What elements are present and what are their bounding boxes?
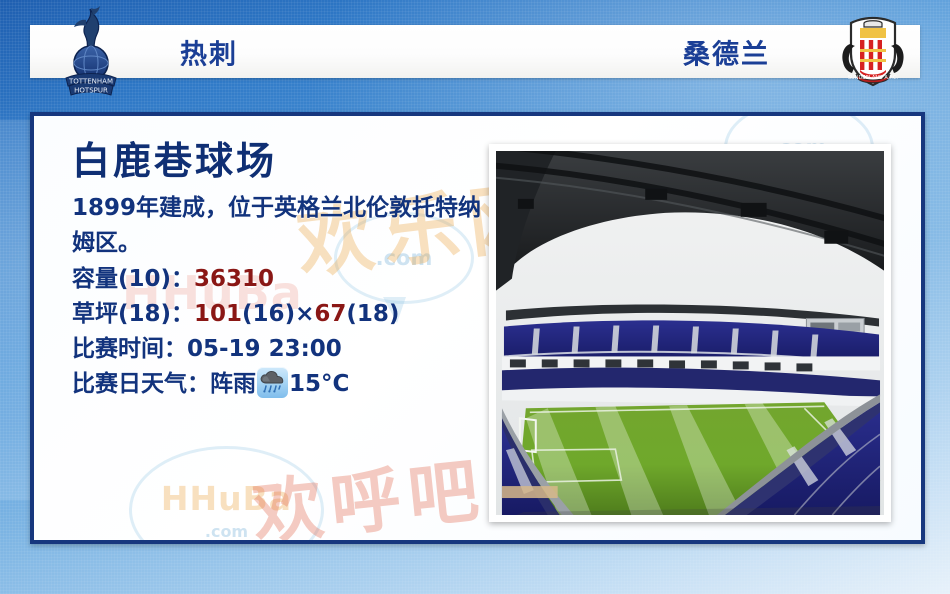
sunderland-afc-crest-icon: SUNDERLAND A.F.C. (838, 16, 908, 88)
pitch-width: 67 (314, 301, 346, 327)
stadium-info-card: 热刺 桑德兰 TOTTENHAM HOTSPUR (0, 0, 950, 594)
pitch-separator: × (295, 301, 314, 327)
kickoff-value: 05-19 23:00 (187, 336, 342, 362)
kickoff-label: 比赛时间： (72, 336, 187, 362)
svg-text:TOTTENHAM: TOTTENHAM (68, 78, 113, 86)
pitch-length-rank: (16) (242, 301, 295, 327)
home-team-name: 热刺 (180, 32, 238, 71)
watermark-brand: HHuBa (161, 479, 292, 518)
watermark-cn-bottom: 欢呼吧 (247, 434, 490, 544)
pitch-length: 101 (194, 301, 242, 327)
stadium-title: 白鹿巷球场 (72, 140, 492, 183)
capacity-value: 36310 (194, 266, 274, 292)
weather-row: 比赛日天气：阵雨 15°C (72, 367, 492, 402)
capacity-row: 容量(10)：36310 (72, 262, 492, 297)
stadium-photo-frame (489, 144, 891, 522)
stadium-description: 1899年建成，位于英格兰北伦敦托特纳姆区。 (72, 191, 492, 262)
stadium-detail-panel: .com .com HHuBa .com HHuBa .com HHuBa 欢乐… (30, 112, 925, 544)
svg-text:HOTSPUR: HOTSPUR (74, 87, 108, 95)
pitch-label: 草坪(18)： (72, 301, 194, 327)
rain-shower-icon (257, 367, 288, 398)
weather-temperature: 15°C (289, 371, 349, 397)
stadium-photo (496, 151, 884, 515)
pitch-row: 草坪(18)：101(16)×67(18) (72, 297, 492, 332)
weather-condition: 阵雨 (210, 371, 256, 397)
away-team-name: 桑德兰 (683, 32, 770, 71)
tottenham-hotspur-crest-icon: TOTTENHAM HOTSPUR (62, 6, 120, 100)
match-header-bar: 热刺 桑德兰 (30, 25, 920, 78)
svg-text:SUNDERLAND A.F.C.: SUNDERLAND A.F.C. (848, 75, 899, 81)
pitch-width-rank: (18) (346, 301, 399, 327)
stadium-info-column: 白鹿巷球场 1899年建成，位于英格兰北伦敦托特纳姆区。 容量(10)：3631… (72, 140, 492, 402)
weather-label: 比赛日天气： (72, 371, 210, 397)
watermark-bubble: HHuBa .com (129, 446, 324, 544)
kickoff-row: 比赛时间：05-19 23:00 (72, 332, 492, 367)
watermark-domain: .com (205, 522, 248, 541)
capacity-label: 容量(10)： (72, 266, 194, 292)
